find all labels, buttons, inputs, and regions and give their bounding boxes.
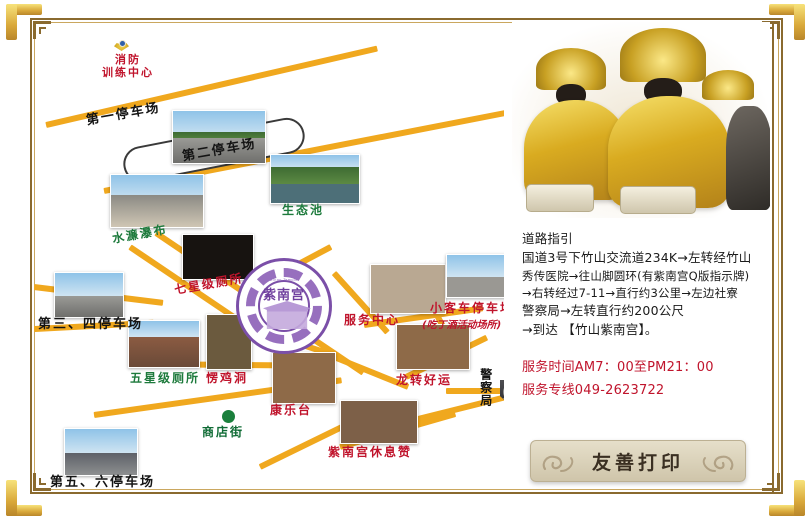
photo-parking-5-6[interactable]	[64, 428, 138, 476]
shopping-street-marker-icon	[222, 410, 235, 423]
map-label-five-star-toilet: 五星级厕所	[130, 372, 200, 386]
map-label-minibus-parking-note: (吃丁酒活动场所)	[422, 320, 501, 332]
map-label-shopping-street: 商店街	[202, 426, 244, 440]
map-label-temple-rest-area: 紫南宫休息赞	[328, 446, 412, 460]
directions-line-4: 警察局→左转直行约200公尺	[522, 302, 772, 320]
friendly-print-button[interactable]: 友善打印	[530, 440, 746, 482]
map-label-police-station: 警察局	[478, 368, 492, 407]
photo-water-curtain[interactable]	[110, 174, 204, 228]
cloud-swirl-left-icon	[539, 447, 583, 477]
service-hotline: 服务专线049-2623722	[522, 381, 772, 401]
directions-block: 道路指引 国道3号下竹山交流道234K→左转经竹山 秀传医院→往山脚圆环(有紫南…	[522, 230, 772, 340]
photo-parking-3-4[interactable]	[54, 272, 124, 318]
directions-line-1: 国道3号下竹山交流道234K→左转经竹山	[522, 249, 772, 267]
photo-temple-rest-area[interactable]	[340, 400, 418, 444]
print-button-label: 友善打印	[592, 448, 684, 475]
photo-minibus-parking[interactable]	[446, 254, 504, 298]
fire-line-2: 训练中心	[102, 67, 154, 80]
photo-eco-pond[interactable]	[270, 154, 360, 204]
directions-line-3: →右转经过7-11→直行约3公里→左边社寮	[522, 285, 772, 301]
map-label-chicken-cave: 愣鸡洞	[206, 372, 248, 386]
fire-badge-icon	[114, 40, 129, 54]
map-label-parking-5-6: 第五、六停车场	[50, 476, 155, 491]
deity-statues-photo	[512, 22, 770, 218]
seal-title: 紫南宫	[239, 284, 329, 303]
poster-page: 消防 训练中心 第一停车场 第二停车场 生态池 水濂瀑布 七星级厕所 第三、四停…	[0, 0, 809, 522]
map-label-dragon-luck: 龙转好运	[396, 374, 452, 388]
temple-seal-logo: Zinan Temple 紫南宫	[236, 258, 332, 354]
directions-title: 道路指引	[522, 230, 772, 248]
info-panel: 道路指引 国道3号下竹山交流道234K→左转经竹山 秀传医院→往山脚圆环(有紫南…	[504, 22, 776, 494]
service-block: 服务时间AM7：00至PM21：00 服务专线049-2623722	[522, 358, 772, 403]
photo-kangle-stage[interactable]	[272, 352, 336, 404]
cloud-swirl-right-icon	[693, 447, 737, 477]
fire-line-1: 消防	[102, 54, 154, 67]
map-label-service-center: 服务中心	[344, 314, 400, 328]
directions-line-5: →到达 【竹山紫南宫】。	[522, 321, 772, 339]
photo-seven-star-toilet[interactable]	[182, 234, 254, 280]
map-label-fire-training-center: 消防 训练中心	[102, 54, 154, 79]
map-label-parking-3-4: 第三、四停车场	[38, 318, 143, 333]
map-label-minibus-parking: 小客车停车场	[430, 302, 504, 316]
road-segment	[446, 388, 504, 394]
map-label-parking-1: 第一停车场	[85, 102, 161, 130]
tourist-map[interactable]: 消防 训练中心 第一停车场 第二停车场 生态池 水濂瀑布 七星级厕所 第三、四停…	[34, 22, 504, 494]
map-label-kangle-stage: 康乐台	[270, 404, 312, 418]
directions-line-2: 秀传医院→往山脚圆环(有紫南宫Q版指示牌)	[522, 268, 772, 284]
seal-subtitle: Zinan Temple	[239, 278, 329, 282]
service-hours: 服务时间AM7：00至PM21：00	[522, 358, 772, 378]
map-label-eco-pond: 生态池	[282, 204, 324, 218]
